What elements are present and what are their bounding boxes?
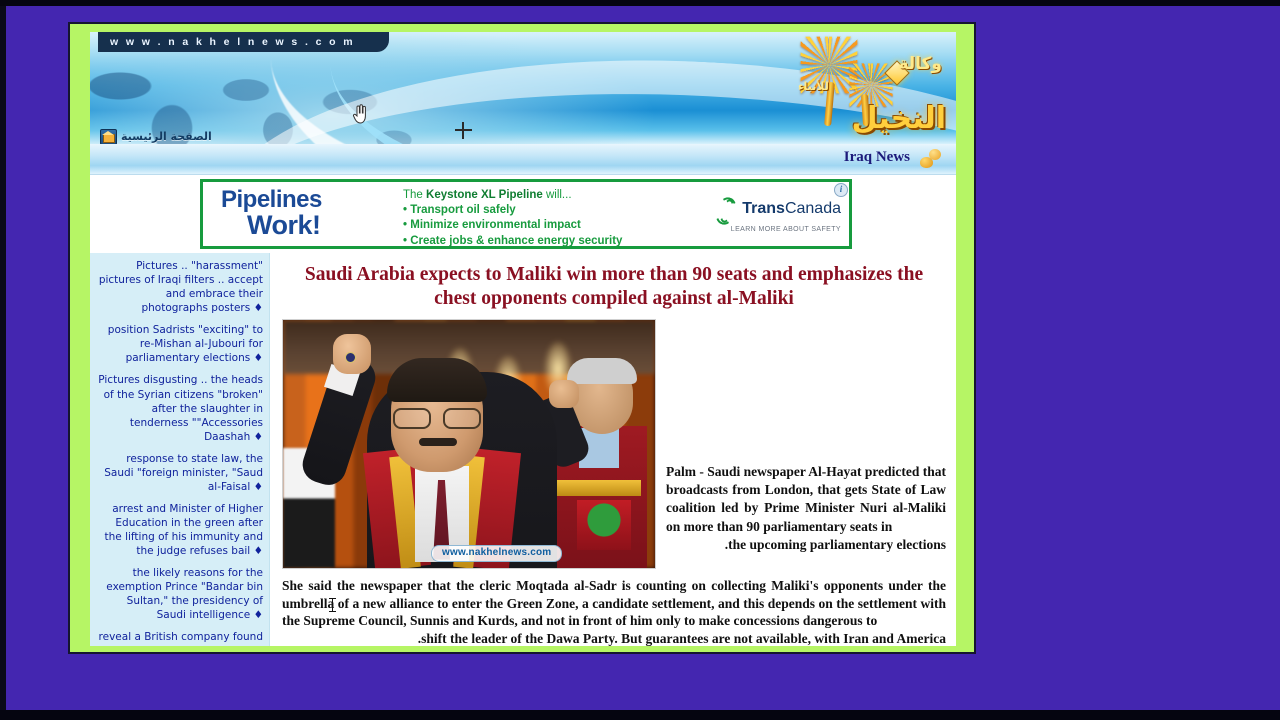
ad-bullet-1-text: Transport oil safely: [410, 204, 515, 216]
diamond-bullet-icon: ♦: [254, 352, 263, 364]
ad-brand-bold: Trans: [742, 200, 785, 217]
site-logo[interactable]: وكالة للأنباء النخيل: [790, 36, 950, 140]
site-url-tab[interactable]: w w w . n a k h e l n e w s . c o m: [98, 32, 389, 52]
advertisement-region: i Pipelines Work! The Keystone XL Pipeli…: [90, 175, 956, 253]
diamond-bullet-icon: ♦: [254, 431, 263, 443]
ad-brand-row: TransCanada: [681, 196, 841, 222]
nav-section-iraq-news[interactable]: Iraq News: [844, 149, 910, 166]
info-icon[interactable]: i: [834, 183, 848, 197]
letterbox-bottom: [0, 710, 1280, 720]
diamond-bullet-icon: ♦: [254, 646, 263, 647]
section-navbar: Iraq News: [90, 144, 956, 175]
hand-pointer-cursor: [352, 104, 368, 124]
letterbox-left: [0, 0, 6, 720]
article-region: Saudi Arabia expects to Maliki win more …: [270, 253, 956, 646]
logo-for-news-word: للأنباء: [798, 80, 829, 93]
ad-brand-block: TransCanada LEARN MORE ABOUT SAFETY: [681, 196, 841, 233]
photo-maliki-hair: [387, 358, 487, 402]
page-content: Pictures .. "harassment" pictures of Ira…: [90, 253, 956, 646]
ad-bullet-1: • Transport oil safely: [403, 203, 622, 218]
photo-watermark: www.nakhelnews.com: [431, 545, 562, 562]
transcanada-logo-icon: [712, 196, 738, 222]
ad-intro-suffix: will...: [543, 189, 572, 201]
article-photo: www.nakhelnews.com: [282, 319, 656, 569]
crosshair-cursor: [455, 122, 472, 139]
screen: w w w . n a k h e l n e w s . c o m الصف…: [0, 0, 1280, 720]
ad-brand-light: Canada: [785, 200, 841, 217]
ad-headline-line2: Work!: [247, 212, 322, 239]
article-lede-text: Palm - Saudi newspaper Al-Hayat predicte…: [666, 464, 946, 534]
logo-agency-word: وكالة: [898, 54, 942, 74]
sidebar-headlines-list: Pictures .. "harassment" pictures of Ira…: [90, 253, 270, 646]
photo-second-official: [545, 362, 649, 568]
article-headline: Saudi Arabia expects to Maliki win more …: [288, 263, 940, 311]
diamond-bullet-icon: ♦: [254, 481, 263, 493]
article-body-text: She said the newspaper that the cleric M…: [282, 578, 946, 629]
sidebar-item-3-label: response to state law, the Saudi "foreig…: [104, 453, 263, 493]
green-border-frame: w w w . n a k h e l n e w s . c o m الصف…: [68, 22, 976, 654]
ad-bullet-3: • Create jobs & enhance energy security: [403, 234, 622, 249]
sidebar-item-1[interactable]: position Sadrists "exciting" to re-Misha…: [96, 323, 263, 365]
ad-bullet-3-text: Create jobs & enhance energy security: [410, 235, 622, 247]
sidebar-item-0-label: Pictures .. "harassment" pictures of Ira…: [99, 260, 263, 314]
diamond-bullet-icon: ♦: [254, 302, 263, 314]
article-body-last-line: .shift the leader of the Dawa Party. But…: [282, 630, 946, 646]
diamond-bullet-icon: ♦: [254, 609, 263, 621]
ad-intro-strong: Keystone XL Pipeline: [426, 189, 543, 201]
sidebar-item-6[interactable]: reveal a British company found the wreck…: [96, 630, 263, 646]
balloon-icon: [918, 148, 944, 170]
home-button[interactable]: الصفحة الرئيسية: [100, 128, 212, 144]
sidebar-item-6-label: reveal a British company found the wreck…: [99, 631, 263, 646]
home-icon: [100, 129, 117, 145]
transcanada-banner-ad[interactable]: i Pipelines Work! The Keystone XL Pipeli…: [200, 179, 852, 249]
ad-brand-name: TransCanada: [742, 200, 841, 218]
photo-glasses: [393, 408, 481, 426]
sidebar-item-1-label: position Sadrists "exciting" to re-Misha…: [108, 324, 263, 364]
ad-headline-line1: Pipelines: [221, 188, 322, 212]
sidebar-item-2-label: Pictures disgusting .. the heads of the …: [98, 374, 263, 442]
logo-name-word: النخيل: [852, 104, 946, 134]
sidebar-item-5-label: the likely reasons for the exemption Pri…: [106, 567, 263, 621]
web-page: w w w . n a k h e l n e w s . c o m الصف…: [90, 32, 956, 646]
ad-headline: Pipelines Work!: [221, 188, 322, 239]
photo-ring: [345, 352, 356, 363]
ad-intro-prefix: The: [403, 189, 426, 201]
sidebar-item-4-label: arrest and Minister of Higher Education …: [105, 503, 263, 557]
text-caret-cursor: [332, 598, 333, 612]
ad-bullet-2: • Minimize environmental impact: [403, 218, 622, 233]
home-button-label: الصفحة الرئيسية: [121, 130, 212, 143]
ad-bullet-2-text: Minimize environmental impact: [410, 219, 581, 231]
sidebar-item-5[interactable]: the likely reasons for the exemption Pri…: [96, 566, 263, 622]
ad-intro-line: The Keystone XL Pipeline will...: [403, 188, 622, 203]
ad-brand-tagline: LEARN MORE ABOUT SAFETY: [681, 226, 841, 233]
ad-copy: The Keystone XL Pipeline will... • Trans…: [403, 188, 622, 249]
site-header-banner: w w w . n a k h e l n e w s . c o m الصف…: [90, 32, 956, 144]
letterbox-top: [0, 0, 1280, 6]
article-body-paragraph: She said the newspaper that the cleric M…: [282, 573, 946, 646]
sidebar-item-2[interactable]: Pictures disgusting .. the heads of the …: [96, 373, 263, 443]
sidebar-item-4[interactable]: arrest and Minister of Higher Education …: [96, 502, 263, 558]
diamond-bullet-icon: ♦: [254, 545, 263, 557]
photo-mustache: [419, 438, 457, 446]
sidebar-item-3[interactable]: response to state law, the Saudi "foreig…: [96, 452, 263, 494]
sidebar-item-0[interactable]: Pictures .. "harassment" pictures of Ira…: [96, 259, 263, 315]
